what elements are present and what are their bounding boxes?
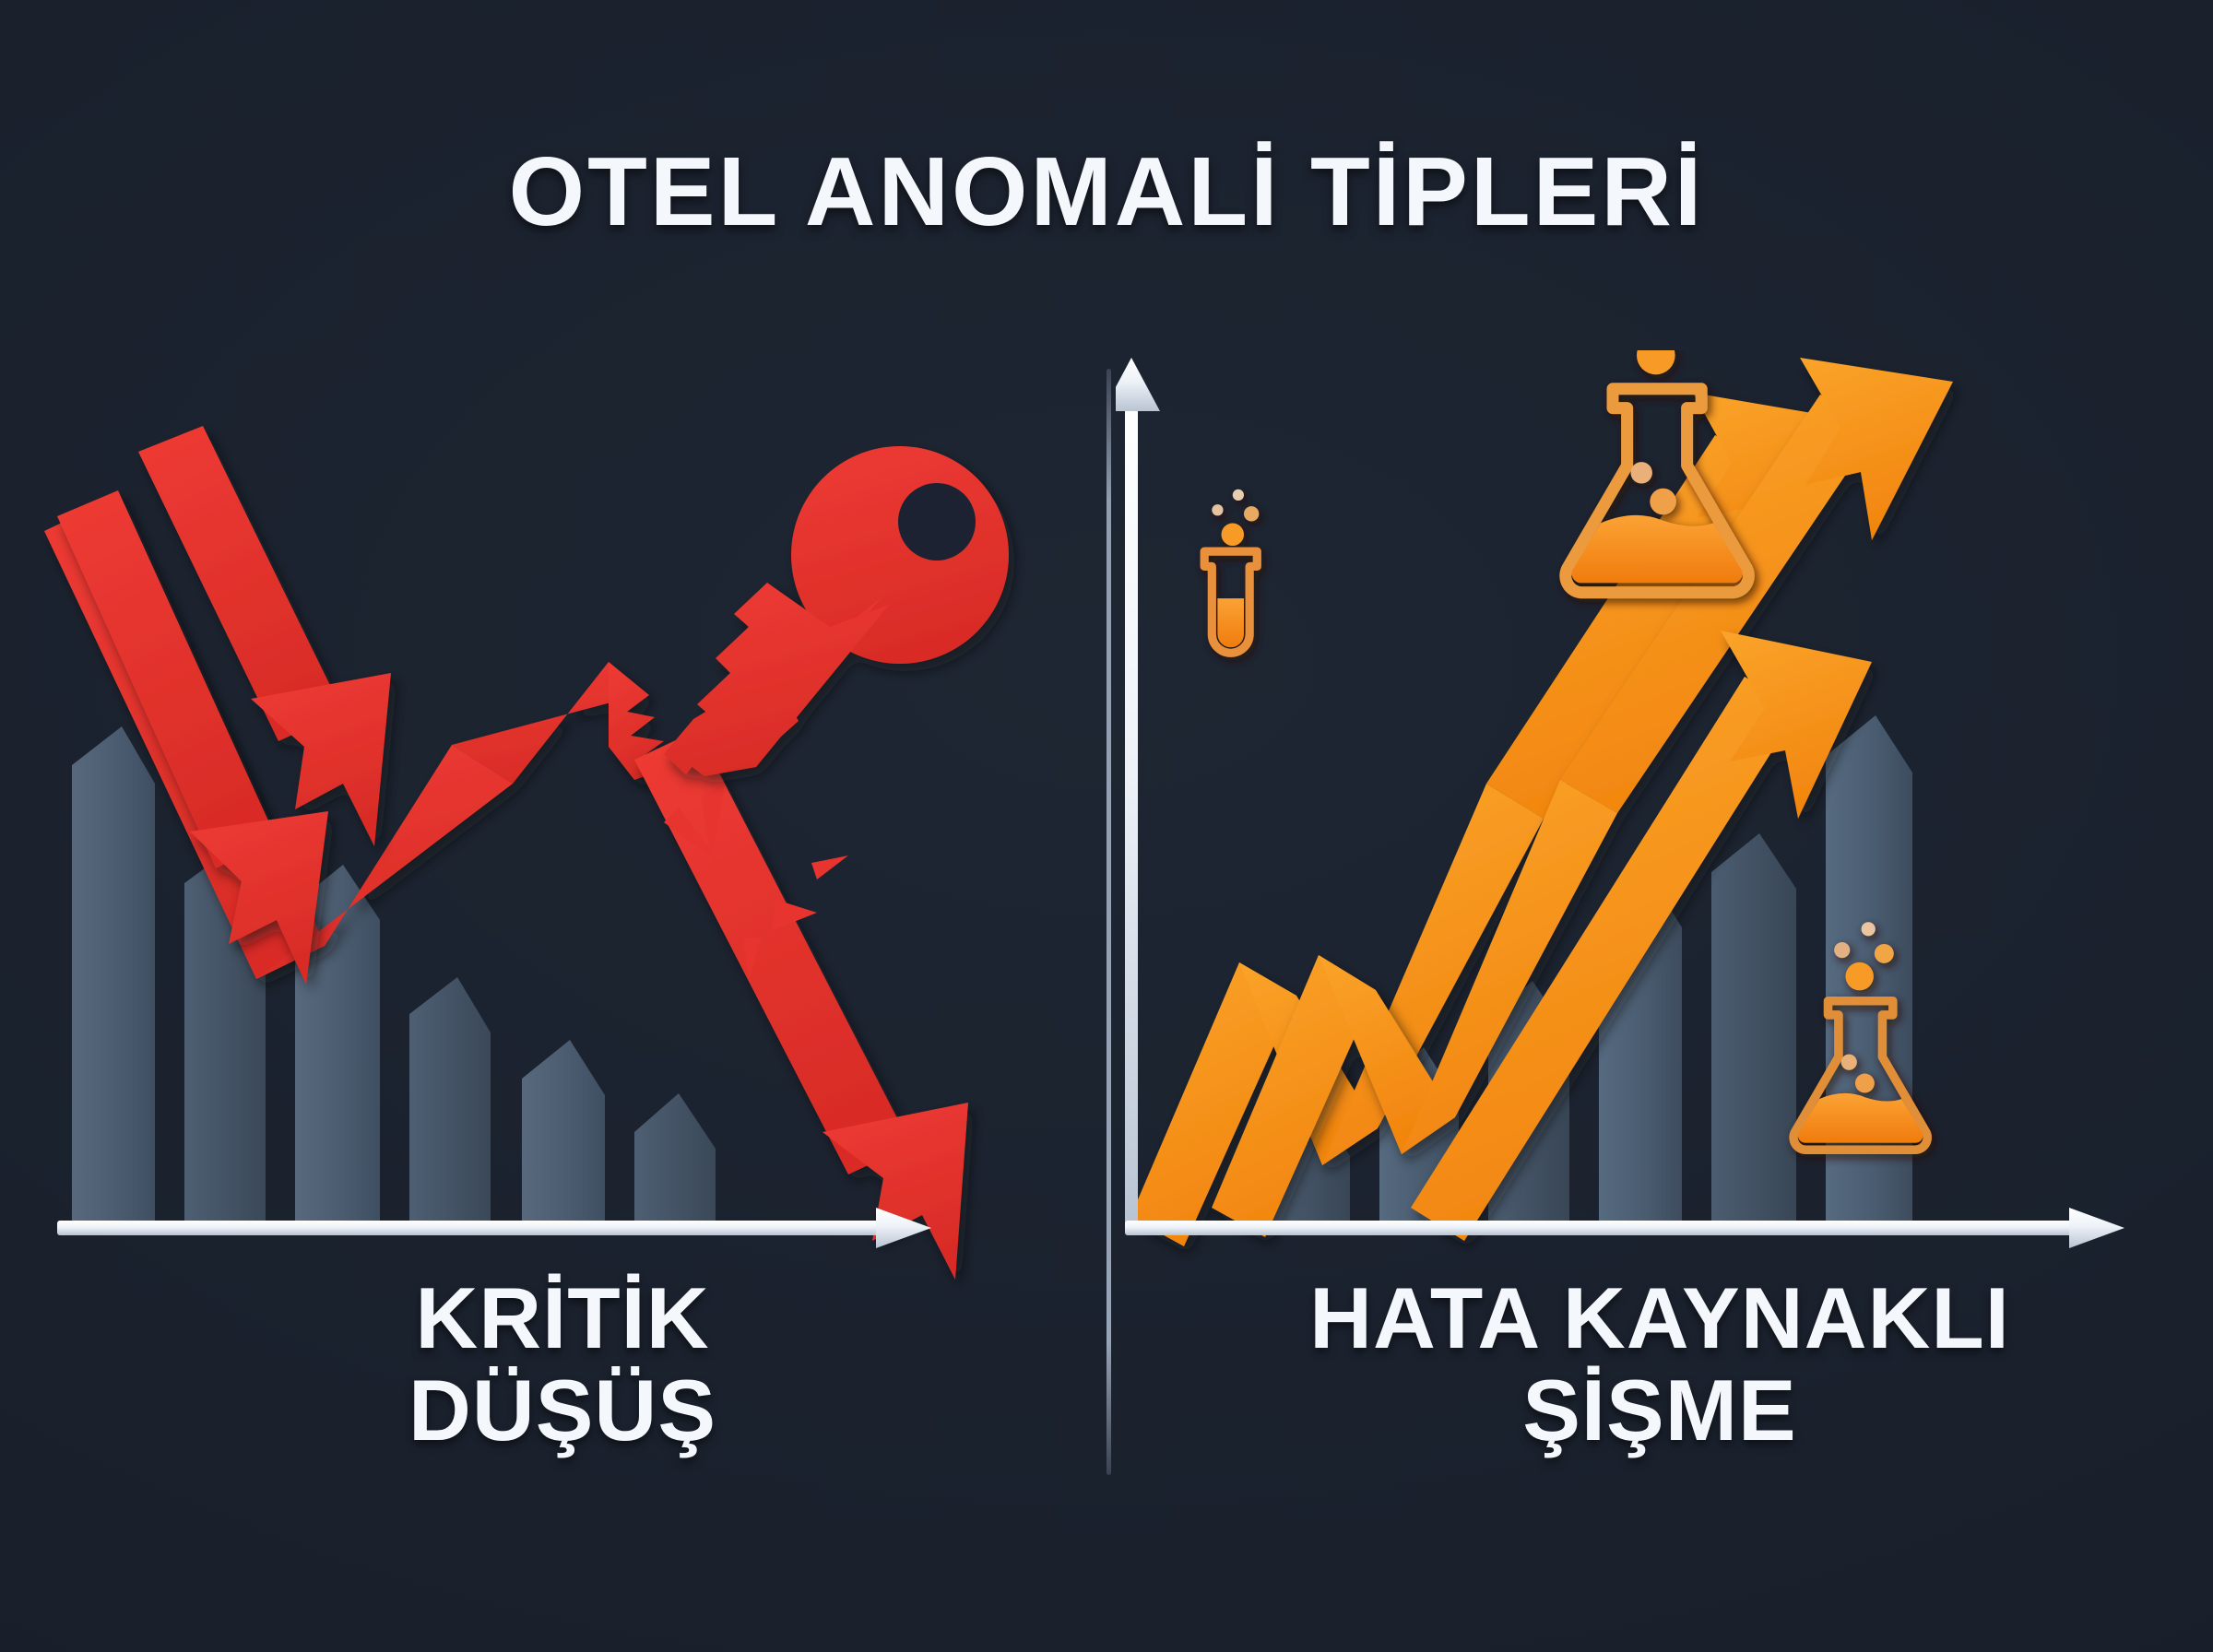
bar-group bbox=[72, 726, 716, 1226]
infographic-canvas: OTEL ANOMALİ TİPLERİ bbox=[0, 0, 2213, 1652]
panel-label-line2: ŞİŞME bbox=[1116, 1364, 2204, 1457]
page-title: OTEL ANOMALİ TİPLERİ bbox=[0, 136, 2213, 248]
bar-6 bbox=[634, 1093, 716, 1226]
test-tube-icon bbox=[1204, 490, 1259, 653]
key-icon bbox=[664, 446, 1009, 776]
panel-kritik-dusus: KRİTİK DÜŞÜŞ bbox=[18, 350, 1106, 1438]
kritik-dusus-chart bbox=[18, 350, 1106, 1300]
hata-kaynakli-sisme-chart bbox=[1116, 350, 2204, 1300]
panel-label-hata-kaynakli-sisme: HATA KAYNAKLI ŞİŞME bbox=[1116, 1272, 2204, 1456]
panel-divider bbox=[1106, 369, 1111, 1475]
bar-5 bbox=[522, 1040, 605, 1226]
bar-1 bbox=[72, 726, 155, 1226]
y-axis bbox=[1116, 358, 1160, 1226]
bar-4 bbox=[409, 977, 491, 1226]
panel-label-kritik-dusus: KRİTİK DÜŞÜŞ bbox=[18, 1272, 1106, 1456]
bar-5 bbox=[1711, 833, 1796, 1226]
panel-hata-kaynakli-sisme: HATA KAYNAKLI ŞİŞME bbox=[1116, 350, 2204, 1438]
panel-label-line1: KRİTİK bbox=[18, 1272, 1106, 1364]
panel-label-line2: DÜŞÜŞ bbox=[18, 1364, 1106, 1457]
panel-label-line1: HATA KAYNAKLI bbox=[1116, 1272, 2204, 1364]
